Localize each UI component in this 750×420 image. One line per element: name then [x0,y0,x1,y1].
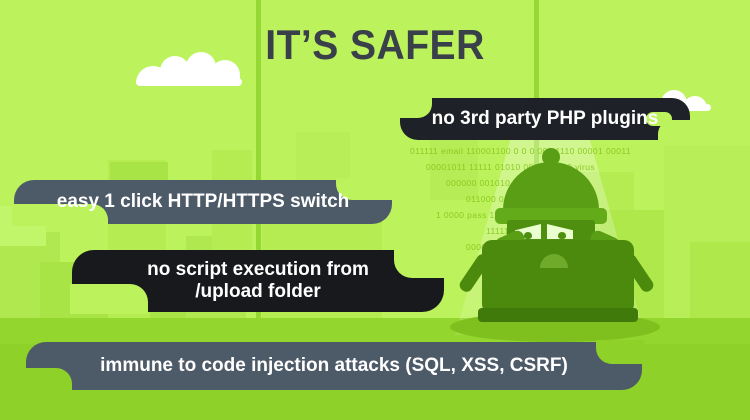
callout-label-line2: /upload folder [195,281,321,302]
callout-script-execution: no script execution from /upload folder [72,250,444,312]
laptop-base [478,308,638,322]
callout-https-switch: easy 1 click HTTP/HTTPS switch [14,180,392,224]
hacker-pupil-right [558,232,566,239]
callout-php-plugins: no 3rd party PHP plugins [400,98,690,140]
callout-notch [596,340,644,364]
hacker-illustration: 011111 email 110001100 0 0 0 000 1110 00… [400,130,750,350]
callout-label: immune to code injection attacks (SQL, X… [86,355,582,377]
callout-notch [394,248,446,278]
page-title: IT’S SAFER [26,22,724,68]
laptop-icon [482,240,634,314]
callout-label-line1: no script execution from [147,259,369,280]
callout-notch [24,368,72,392]
callout-code-injection: immune to code injection attacks (SQL, X… [26,342,642,390]
callout-label: no 3rd party PHP plugins [418,108,673,130]
hacker-pupil-left [524,232,532,239]
infographic-canvas: 011111 email 110001100 0 0 0 000 1110 00… [0,0,750,420]
callout-label: easy 1 click HTTP/HTTPS switch [43,191,364,213]
